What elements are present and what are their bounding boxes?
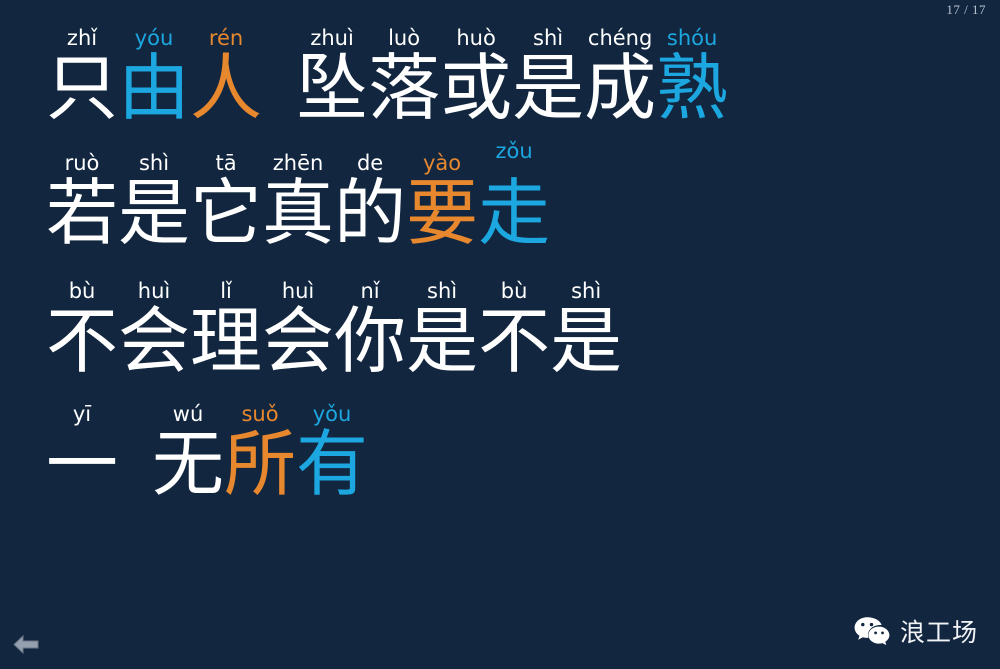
hanzi-character: 只 bbox=[46, 52, 118, 125]
arrow-left-icon bbox=[12, 633, 40, 655]
character-unit: bù不 bbox=[478, 281, 550, 378]
lyric-line: yī一wú无suǒ所yǒu有 bbox=[46, 404, 1000, 501]
hanzi-character: 要 bbox=[406, 177, 478, 250]
hanzi-character: 它 bbox=[190, 177, 262, 250]
pinyin-label: zǒu bbox=[496, 141, 533, 165]
character-unit: ruò若 bbox=[46, 153, 118, 250]
hanzi-character: 不 bbox=[478, 305, 550, 378]
character-unit: zhǐ只 bbox=[46, 28, 118, 125]
hanzi-character: 人 bbox=[190, 52, 262, 125]
character-unit: shóu熟 bbox=[656, 28, 728, 125]
hanzi-character: 一 bbox=[46, 428, 118, 501]
character-unit: zhuì坠 bbox=[296, 28, 368, 125]
character-unit: shì是 bbox=[406, 281, 478, 378]
character-unit: bù不 bbox=[46, 281, 118, 378]
page-counter: 17 / 17 bbox=[946, 2, 986, 18]
hanzi-character: 成 bbox=[584, 52, 656, 125]
hanzi-character: 坠 bbox=[296, 52, 368, 125]
character-unit: luò落 bbox=[368, 28, 440, 125]
character-unit: wú无 bbox=[152, 404, 224, 501]
character-unit: shì是 bbox=[512, 28, 584, 125]
character-unit: yào要 bbox=[406, 153, 478, 250]
character-unit: huò或 bbox=[440, 28, 512, 125]
character-unit: yóu由 bbox=[118, 28, 190, 125]
hanzi-character: 是 bbox=[406, 305, 478, 378]
character-unit: rén人 bbox=[190, 28, 262, 125]
character-unit: zǒu走 bbox=[478, 153, 550, 250]
character-unit: de的 bbox=[334, 153, 406, 250]
lyric-line: ruò若shì是tā它zhēn真de的yào要zǒu走 bbox=[46, 153, 1000, 250]
character-unit: suǒ所 bbox=[224, 404, 296, 501]
character-unit: yǒu有 bbox=[296, 404, 368, 501]
character-unit: tā它 bbox=[190, 153, 262, 250]
character-unit: nǐ你 bbox=[334, 281, 406, 378]
character-unit: shì是 bbox=[118, 153, 190, 250]
watermark: 浪工场 bbox=[853, 613, 978, 649]
hanzi-character: 或 bbox=[440, 52, 512, 125]
hanzi-character: 是 bbox=[118, 177, 190, 250]
back-arrow-button[interactable] bbox=[12, 633, 40, 655]
hanzi-character: 是 bbox=[512, 52, 584, 125]
hanzi-character: 会 bbox=[118, 305, 190, 378]
lyrics-container: zhǐ只yóu由rén人zhuì坠luò落huò或shì是chéng成shóu熟… bbox=[46, 28, 1000, 524]
lyric-line: zhǐ只yóu由rén人zhuì坠luò落huò或shì是chéng成shóu熟 bbox=[46, 28, 1000, 125]
hanzi-character: 由 bbox=[118, 52, 190, 125]
hanzi-character: 无 bbox=[152, 428, 224, 501]
character-unit: zhēn真 bbox=[262, 153, 334, 250]
hanzi-character: 所 bbox=[224, 428, 296, 501]
hanzi-character: 不 bbox=[46, 305, 118, 378]
hanzi-character: 熟 bbox=[656, 52, 728, 125]
character-unit: chéng成 bbox=[584, 28, 656, 125]
wechat-icon bbox=[853, 615, 891, 647]
character-unit: yī一 bbox=[46, 404, 118, 501]
slide-canvas: 17 / 17 zhǐ只yóu由rén人zhuì坠luò落huò或shì是ché… bbox=[0, 0, 1000, 669]
hanzi-character: 的 bbox=[334, 177, 406, 250]
character-unit: lǐ理 bbox=[190, 281, 262, 378]
hanzi-character: 你 bbox=[334, 305, 406, 378]
hanzi-character: 是 bbox=[550, 305, 622, 378]
hanzi-character: 落 bbox=[368, 52, 440, 125]
character-unit: huì会 bbox=[262, 281, 334, 378]
character-unit: huì会 bbox=[118, 281, 190, 378]
hanzi-character: 走 bbox=[478, 177, 550, 250]
watermark-label: 浪工场 bbox=[900, 613, 978, 649]
hanzi-character: 理 bbox=[190, 305, 262, 378]
hanzi-character: 有 bbox=[296, 428, 368, 501]
hanzi-character: 会 bbox=[262, 305, 334, 378]
hanzi-character: 若 bbox=[46, 177, 118, 250]
character-unit: shì是 bbox=[550, 281, 622, 378]
hanzi-character: 真 bbox=[262, 177, 334, 250]
lyric-line: bù不huì会lǐ理huì会nǐ你shì是bù不shì是 bbox=[46, 281, 1000, 378]
